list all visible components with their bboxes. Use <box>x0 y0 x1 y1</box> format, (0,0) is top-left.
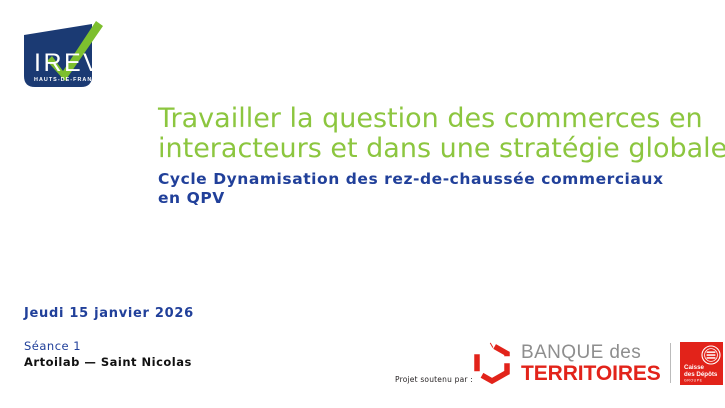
bdt-line-1: BANQUE des <box>521 343 661 362</box>
subtitle-line-1: Cycle Dynamisation des rez-de-chaussée c… <box>158 170 718 189</box>
event-session-block: Séance 1 Artoilab — Saint Nicolas <box>24 338 192 370</box>
irev-logo: IREV HAUTS-DE-FRANCE <box>22 18 108 94</box>
event-date: Jeudi 15 janvier 2026 <box>24 305 194 322</box>
caisse-des-depots-logo: Caisse des Dépôts GROUPE <box>680 342 723 385</box>
irev-wordmark: IREV <box>34 49 102 77</box>
bdt-line-2: TERRITOIRES <box>521 363 661 384</box>
title-line-2: interacteurs et dans une stratégie globa… <box>158 134 714 164</box>
cdc-line-3: GROUPE <box>684 378 703 382</box>
banque-des-territoires-wordmark: BANQUE des TERRITOIRES <box>521 343 661 384</box>
title-line-1: Travailler la question des commerces en <box>158 104 714 134</box>
presentation-title-slide: IREV HAUTS-DE-FRANCE Travailler la quest… <box>0 0 725 408</box>
banque-des-territoires-logo: BANQUE des TERRITOIRES Caisse des Dépôts… <box>472 338 723 388</box>
event-session: Séance 1 <box>24 338 192 354</box>
event-venue: Artoilab — Saint Nicolas <box>24 354 192 370</box>
cdc-line-2: des Dépôts <box>684 371 718 378</box>
cdc-emblem-icon <box>702 346 720 364</box>
logo-divider <box>670 343 671 383</box>
page-subtitle: Cycle Dynamisation des rez-de-chaussée c… <box>158 170 718 208</box>
sponsor-note: Projet soutenu par : <box>395 375 473 384</box>
page-title: Travailler la question des commerces en … <box>158 104 714 164</box>
open-hexagon-icon <box>472 341 512 385</box>
event-date-block: Jeudi 15 janvier 2026 <box>24 305 194 322</box>
subtitle-line-2: en QPV <box>158 189 718 208</box>
irev-tagline: HAUTS-DE-FRANCE <box>34 77 102 83</box>
cdc-line-1: Caisse <box>684 364 705 371</box>
